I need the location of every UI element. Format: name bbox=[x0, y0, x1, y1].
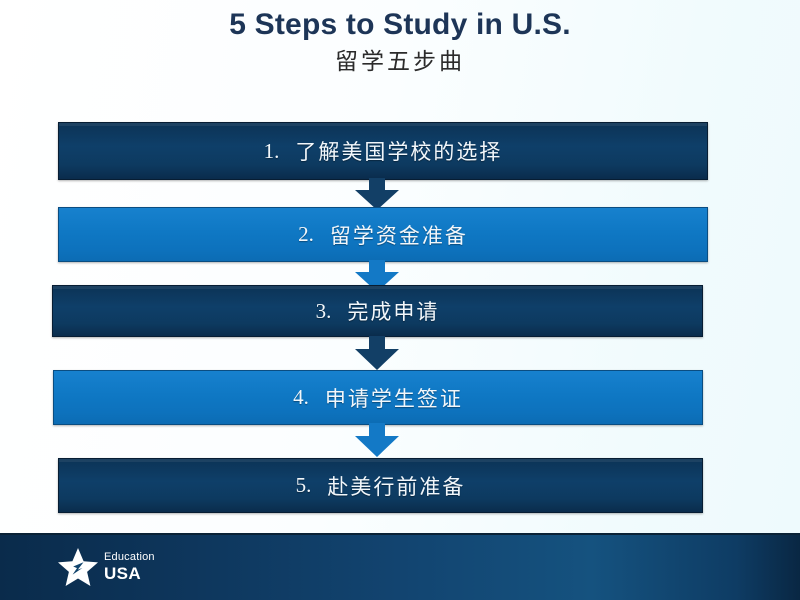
flow-step-2-label: 留学资金准备 bbox=[330, 220, 468, 250]
logo-line-education: Education bbox=[104, 552, 155, 563]
flow-step-5-number: 5. bbox=[296, 473, 312, 498]
flow-step-4-label: 申请学生签证 bbox=[325, 383, 463, 413]
flow-arrow-4-5 bbox=[355, 423, 399, 457]
slide-canvas: 5 Steps to Study in U.S. 留学五步曲 1. 了解美国学校… bbox=[0, 0, 800, 600]
flow-step-3-number: 3. bbox=[316, 299, 332, 324]
title-block: 5 Steps to Study in U.S. 留学五步曲 bbox=[0, 8, 800, 76]
flow-step-5-label: 赴美行前准备 bbox=[327, 471, 465, 501]
flow-step-1[interactable]: 1. 了解美国学校的选择 bbox=[58, 122, 708, 180]
flow-step-3-label: 完成申请 bbox=[347, 296, 439, 326]
educationusa-logo: Education USA bbox=[58, 546, 155, 588]
flow-step-4-number: 4. bbox=[293, 385, 309, 410]
flow-step-1-number: 1. bbox=[264, 139, 280, 164]
logo-wordmark: Education USA bbox=[104, 552, 155, 582]
star-icon bbox=[58, 547, 98, 587]
flow-step-3[interactable]: 3. 完成申请 bbox=[52, 285, 703, 337]
flow-arrow-3-4 bbox=[355, 336, 399, 370]
flow-step-1-label: 了解美国学校的选择 bbox=[295, 136, 502, 166]
flow-step-2[interactable]: 2. 留学资金准备 bbox=[58, 207, 708, 262]
flow-step-5[interactable]: 5. 赴美行前准备 bbox=[58, 458, 703, 513]
flow-step-2-number: 2. bbox=[298, 222, 314, 247]
flow-arrow-1-2 bbox=[355, 178, 399, 210]
page-subtitle: 留学五步曲 bbox=[0, 49, 800, 77]
logo-line-usa: USA bbox=[104, 565, 155, 582]
page-title: 5 Steps to Study in U.S. bbox=[0, 8, 800, 43]
flow-step-4[interactable]: 4. 申请学生签证 bbox=[53, 370, 703, 425]
